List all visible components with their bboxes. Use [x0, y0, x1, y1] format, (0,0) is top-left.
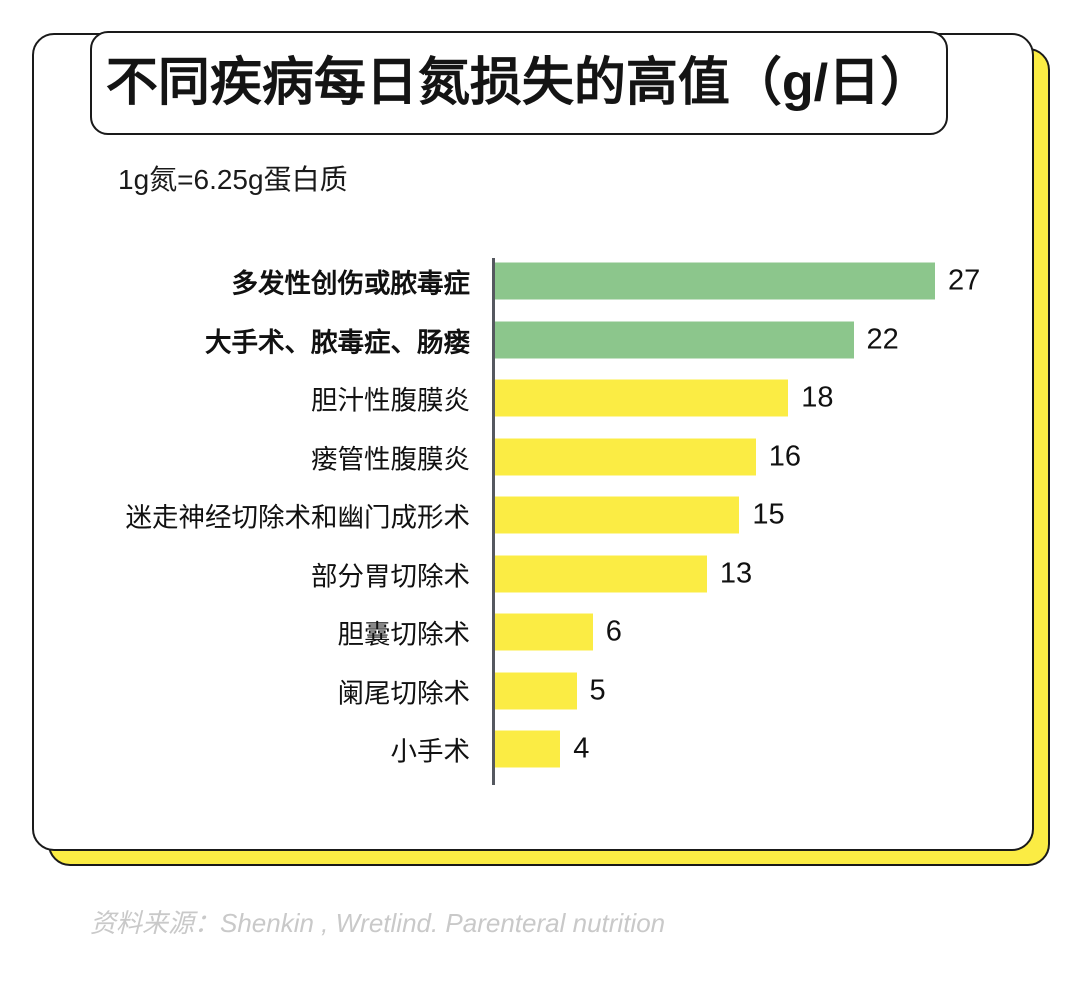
bar-wrapper: 27 — [495, 263, 980, 300]
bar-rows: 多发性创伤或脓毒症27大手术、脓毒症、肠瘘22胆汁性腹膜炎18瘘管性腹膜炎16迷… — [0, 252, 1080, 779]
bar-category-label: 小手术 — [391, 730, 471, 769]
bar-row: 瘘管性腹膜炎16 — [0, 428, 1080, 487]
bar-row: 胆囊切除术6 — [0, 603, 1080, 662]
bar-row: 小手术4 — [0, 720, 1080, 779]
bar-wrapper: 4 — [495, 731, 589, 768]
bar-category-label: 胆汁性腹膜炎 — [311, 379, 470, 418]
bar-value-label: 15 — [752, 501, 784, 530]
bar — [495, 672, 577, 709]
title-box: 不同疾病每日氮损失的高值（g/日） — [90, 31, 948, 135]
bar-value-label: 16 — [769, 442, 801, 471]
page-title: 不同疾病每日氮损失的高值（g/日） — [106, 57, 932, 109]
bar-value-label: 22 — [867, 325, 899, 354]
bar-row: 迷走神经切除术和幽门成形术15 — [0, 486, 1080, 545]
bar-value-label: 27 — [948, 267, 980, 296]
bar-row: 大手术、脓毒症、肠瘘22 — [0, 311, 1080, 370]
infographic-card: 不同疾病每日氮损失的高值（g/日） 1g氮=6.25g蛋白质 多发性创伤或脓毒症… — [0, 0, 1080, 984]
bar — [495, 497, 739, 534]
bar-value-label: 5 — [590, 676, 606, 705]
bar-value-label: 18 — [801, 384, 833, 413]
bar-wrapper: 6 — [495, 614, 622, 651]
bar — [495, 380, 788, 417]
bar-category-label: 大手术、脓毒症、肠瘘 — [205, 320, 470, 359]
bar-value-label: 13 — [720, 559, 752, 588]
source-attribution: 资料来源：Shenkin , Wretlind. Parenteral nutr… — [90, 903, 665, 940]
bar-chart: 多发性创伤或脓毒症27大手术、脓毒症、肠瘘22胆汁性腹膜炎18瘘管性腹膜炎16迷… — [0, 252, 1080, 797]
bar-category-label: 迷走神经切除术和幽门成形术 — [126, 496, 471, 535]
bar-value-label: 6 — [606, 618, 622, 647]
bar-wrapper: 5 — [495, 672, 606, 709]
bar-category-label: 多发性创伤或脓毒症 — [232, 262, 471, 301]
bar — [495, 263, 935, 300]
bar-category-label: 阑尾切除术 — [338, 671, 471, 710]
bar-category-label: 部分胃切除术 — [311, 554, 470, 593]
bar-wrapper: 16 — [495, 438, 801, 475]
bar-row: 部分胃切除术13 — [0, 545, 1080, 604]
bar — [495, 321, 854, 358]
bar — [495, 555, 707, 592]
bar — [495, 438, 756, 475]
bar-row: 胆汁性腹膜炎18 — [0, 369, 1080, 428]
bar-wrapper: 13 — [495, 555, 752, 592]
bar-category-label: 瘘管性腹膜炎 — [311, 437, 470, 476]
bar — [495, 614, 593, 651]
bar-value-label: 4 — [573, 735, 589, 764]
bar-wrapper: 15 — [495, 497, 785, 534]
bar-row: 多发性创伤或脓毒症27 — [0, 252, 1080, 311]
bar-wrapper: 18 — [495, 380, 834, 417]
bar-wrapper: 22 — [495, 321, 899, 358]
bar — [495, 731, 560, 768]
bar-category-label: 胆囊切除术 — [338, 613, 471, 652]
bar-row: 阑尾切除术5 — [0, 662, 1080, 721]
subtitle-note: 1g氮=6.25g蛋白质 — [118, 158, 348, 198]
